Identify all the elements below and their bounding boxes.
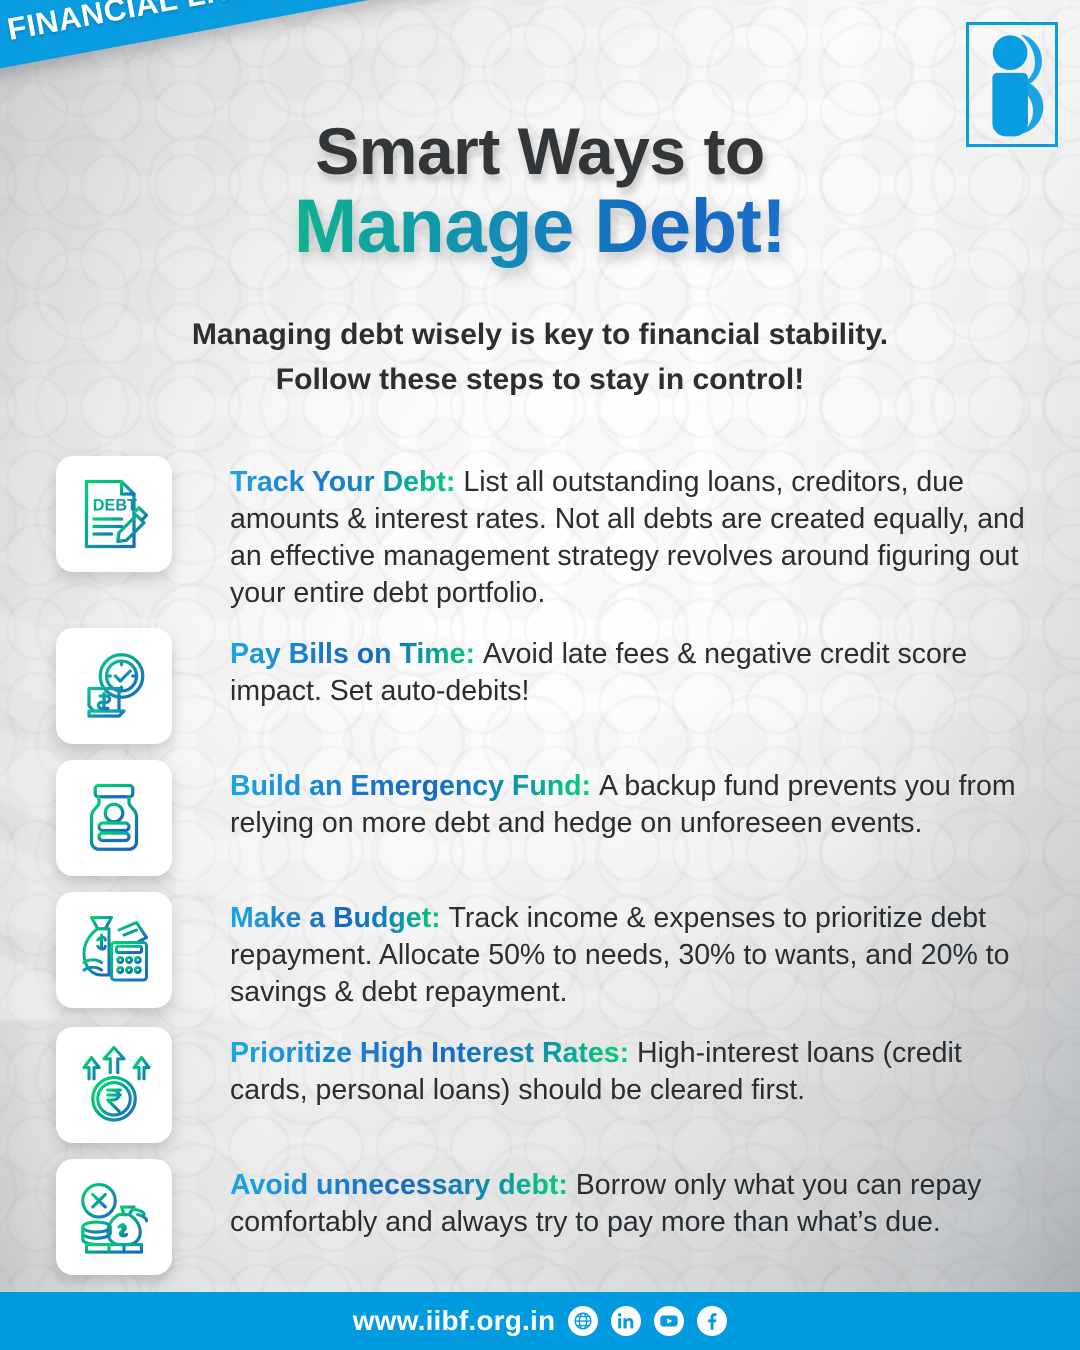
list-item: Avoid unnecessary debt: Borrow only what…: [0, 1155, 1080, 1275]
debt-document-pen-icon: DEBT: [74, 474, 154, 554]
icon-card: [56, 628, 172, 744]
tip-text: Track Your Debt: List all outstanding lo…: [230, 452, 1080, 612]
footer-bar: www.iibf.org.in: [0, 1292, 1080, 1350]
list-item: Prioritize High Interest Rates: High-int…: [0, 1023, 1080, 1143]
no-debt-money-bag-icon: [74, 1177, 154, 1257]
icon-card: [56, 760, 172, 876]
subtitle-line-2: Follow these steps to stay in control!: [0, 357, 1080, 402]
icon-card: DEBT: [56, 456, 172, 572]
money-bag-calculator-icon: [74, 910, 154, 990]
icon-card: [56, 1027, 172, 1143]
tip-heading: Make a Budget:: [230, 902, 449, 934]
list-item: Make a Budget: Track income & expenses t…: [0, 888, 1080, 1011]
clock-bill-payment-icon: [74, 646, 154, 726]
title-line-2: Manage Debt!: [0, 184, 1080, 269]
tip-text: Build an Emergency Fund: A backup fund p…: [230, 756, 1080, 842]
linkedin-icon[interactable]: [611, 1306, 641, 1336]
rupee-coin-up-arrows-icon: [74, 1045, 154, 1125]
list-item: Pay Bills on Time: Avoid late fees & neg…: [0, 624, 1080, 744]
tip-text: Avoid unnecessary debt: Borrow only what…: [230, 1155, 1080, 1241]
tip-text: Make a Budget: Track income & expenses t…: [230, 888, 1080, 1011]
subtitle-line-1: Managing debt wisely is key to financial…: [0, 312, 1080, 357]
svg-text:DEBT: DEBT: [93, 496, 137, 514]
ribbon-label: FINANCIAL LITERACY: [5, 0, 347, 48]
tip-heading: Avoid unnecessary debt:: [230, 1169, 576, 1201]
tip-heading: Prioritize High Interest Rates:: [230, 1037, 637, 1069]
tips-list: DEBT Track Your Debt: List all outstandi…: [0, 452, 1080, 1287]
list-item: Build an Emergency Fund: A backup fund p…: [0, 756, 1080, 876]
tip-text: Pay Bills on Time: Avoid late fees & neg…: [230, 624, 1080, 710]
youtube-icon[interactable]: [654, 1306, 684, 1336]
tip-text: Prioritize High Interest Rates: High-int…: [230, 1023, 1080, 1109]
savings-jar-coins-icon: [74, 778, 154, 858]
globe-icon[interactable]: [568, 1306, 598, 1336]
website-url[interactable]: www.iibf.org.in: [353, 1305, 556, 1337]
icon-card: [56, 892, 172, 1008]
tip-heading: Pay Bills on Time:: [230, 638, 483, 670]
financial-literacy-ribbon: FINANCIAL LITERACY: [0, 0, 536, 89]
title-line-1: Smart Ways to: [0, 118, 1080, 184]
facebook-icon[interactable]: [697, 1306, 727, 1336]
subtitle: Managing debt wisely is key to financial…: [0, 312, 1080, 402]
page-title: Smart Ways to Manage Debt!: [0, 118, 1080, 269]
tip-heading: Track Your Debt:: [230, 466, 463, 498]
tip-heading: Build an Emergency Fund:: [230, 770, 599, 802]
icon-card: [56, 1159, 172, 1275]
list-item: DEBT Track Your Debt: List all outstandi…: [0, 452, 1080, 612]
infographic-poster: FINANCIAL LITERACY Smart Ways to Manage …: [0, 0, 1080, 1350]
